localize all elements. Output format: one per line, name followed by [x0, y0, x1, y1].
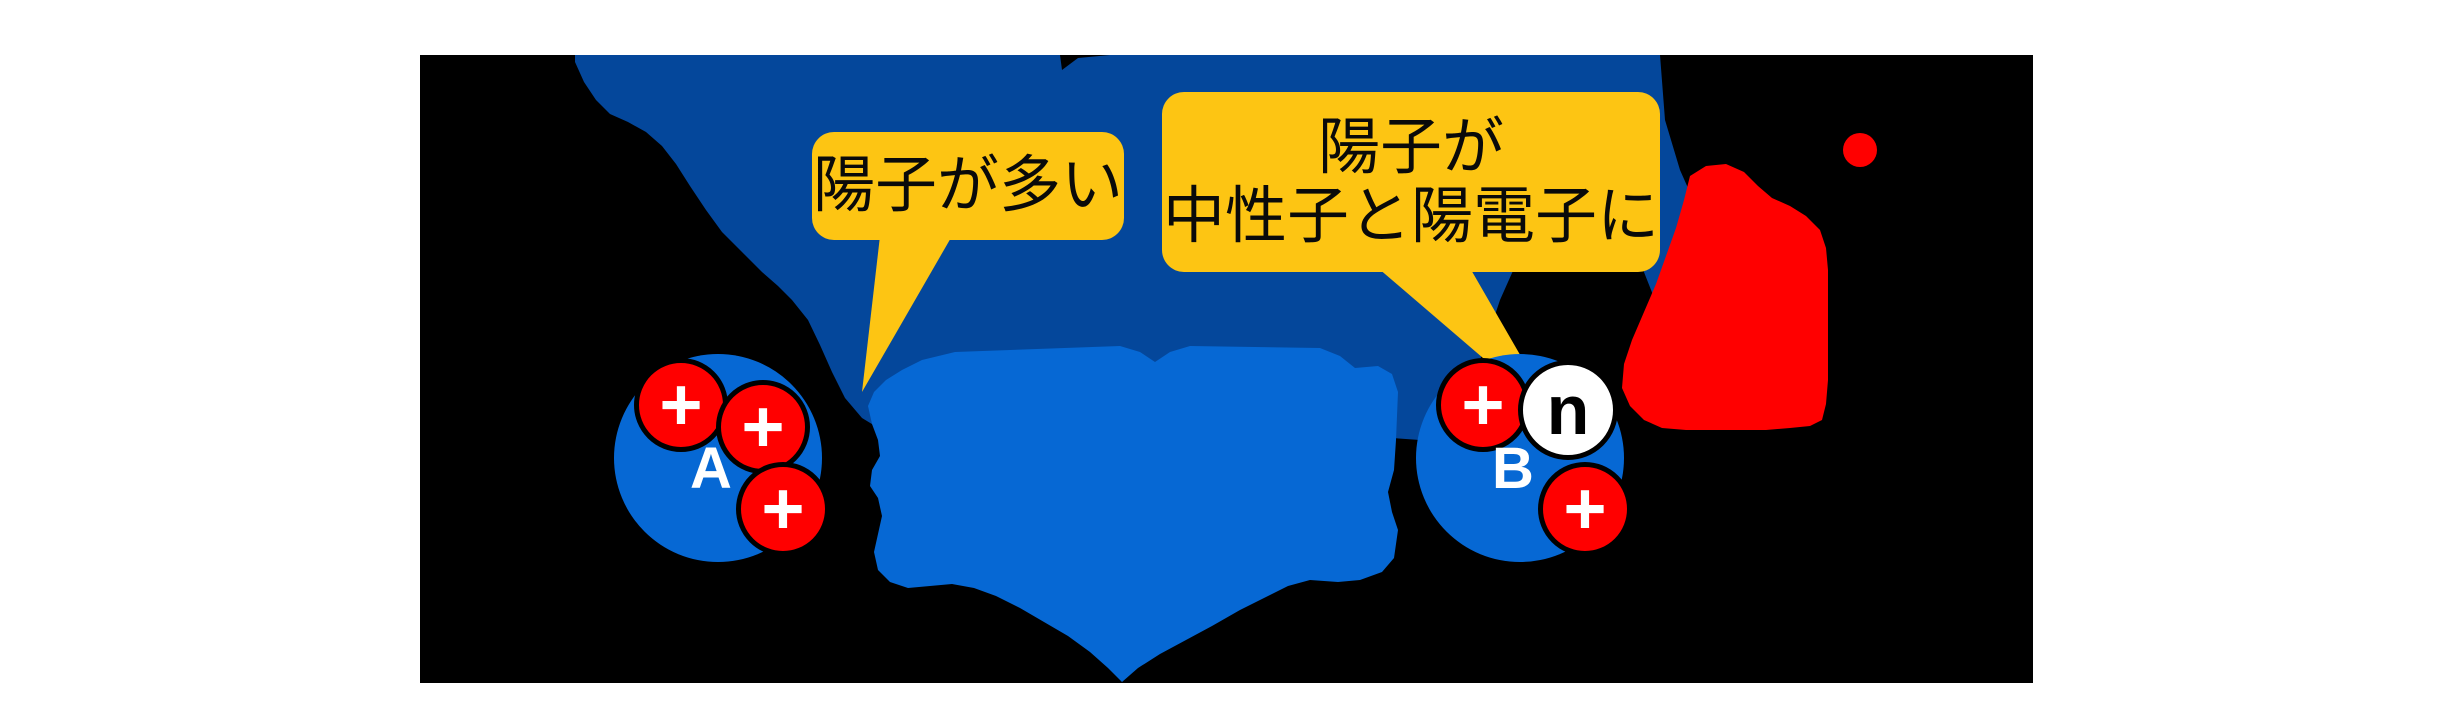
proton-a-3[interactable]: + — [736, 462, 830, 556]
diagram-canvas: 陽子が多い 陽子が 中性子と陽電子に + + + A + n + B — [0, 0, 2454, 718]
speech-bubble-protons-many[interactable]: 陽子が多い — [812, 132, 1124, 240]
nucleus-b-label: B — [1492, 440, 1534, 498]
bubble-line: 陽子が多い — [813, 151, 1123, 220]
proton-b-2[interactable]: + — [1538, 462, 1632, 556]
highlight-island-dot — [1843, 133, 1877, 167]
bubble-line: 中性子と陽電子に — [1163, 182, 1659, 251]
bubble-line: 陽子が — [1318, 113, 1504, 182]
nucleus-a-label: A — [690, 440, 732, 498]
speech-bubble-proton-decay[interactable]: 陽子が 中性子と陽電子に — [1162, 92, 1660, 272]
